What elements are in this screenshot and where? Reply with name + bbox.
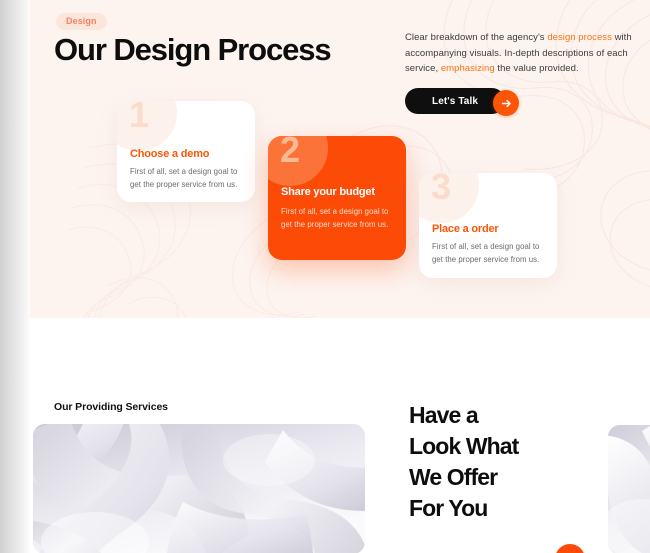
providing-services-section: Our Providing Services	[30, 318, 650, 553]
lets-talk-button[interactable]: Let's Talk	[405, 88, 505, 114]
page-scroll-gutter[interactable]	[0, 0, 30, 553]
offer-heading: Have aLook WhatWe OfferFor You	[409, 400, 518, 524]
process-step-card-3[interactable]: 3 Place a order First of all, set a desi…	[419, 173, 557, 278]
process-step-card-1[interactable]: 1 Choose a demo First of all, set a desi…	[117, 101, 255, 202]
step-number: 2	[280, 136, 299, 168]
page-canvas: Design Our Design Process Clear breakdow…	[30, 0, 650, 553]
offer-heading-line-1: Have a	[409, 400, 518, 431]
abstract-white-sculpture-photo[interactable]	[33, 424, 365, 553]
step-description: First of all, set a design goal to get t…	[432, 241, 544, 266]
step-description: First of all, set a design goal to get t…	[281, 206, 393, 231]
step-description: First of all, set a design goal to get t…	[130, 166, 242, 191]
hero-description-highlight: emphasizing	[441, 63, 495, 74]
services-label: Our Providing Services	[54, 401, 168, 413]
abstract-white-sculpture-photo-secondary[interactable]	[608, 425, 650, 553]
hero-description-text: the value provided.	[495, 63, 579, 74]
offer-heading-line-2: Look What	[409, 431, 518, 462]
step-title: Share your budget	[281, 186, 375, 198]
step-number: 3	[431, 173, 450, 205]
hero-description-highlight: design process	[547, 32, 612, 43]
process-step-card-2[interactable]: 2 Share your budget First of all, set a …	[268, 136, 406, 260]
offer-heading-line-3: We Offer	[409, 462, 518, 493]
design-process-hero-section: Design Our Design Process Clear breakdow…	[30, 0, 650, 318]
step-number: 1	[129, 101, 148, 133]
offer-heading-line-4: For You	[409, 493, 518, 524]
cta-button-group[interactable]: Let's Talk	[405, 88, 535, 118]
section-badge: Design	[56, 13, 107, 30]
arrow-right-icon[interactable]	[493, 90, 519, 116]
page-title: Our Design Process	[54, 32, 331, 68]
hero-description-text: Clear breakdown of the agency's	[405, 32, 547, 43]
accent-dot[interactable]	[555, 544, 585, 553]
step-title: Place a order	[432, 223, 499, 235]
step-title: Choose a demo	[130, 148, 209, 160]
hero-description: Clear breakdown of the agency's design p…	[405, 30, 643, 77]
